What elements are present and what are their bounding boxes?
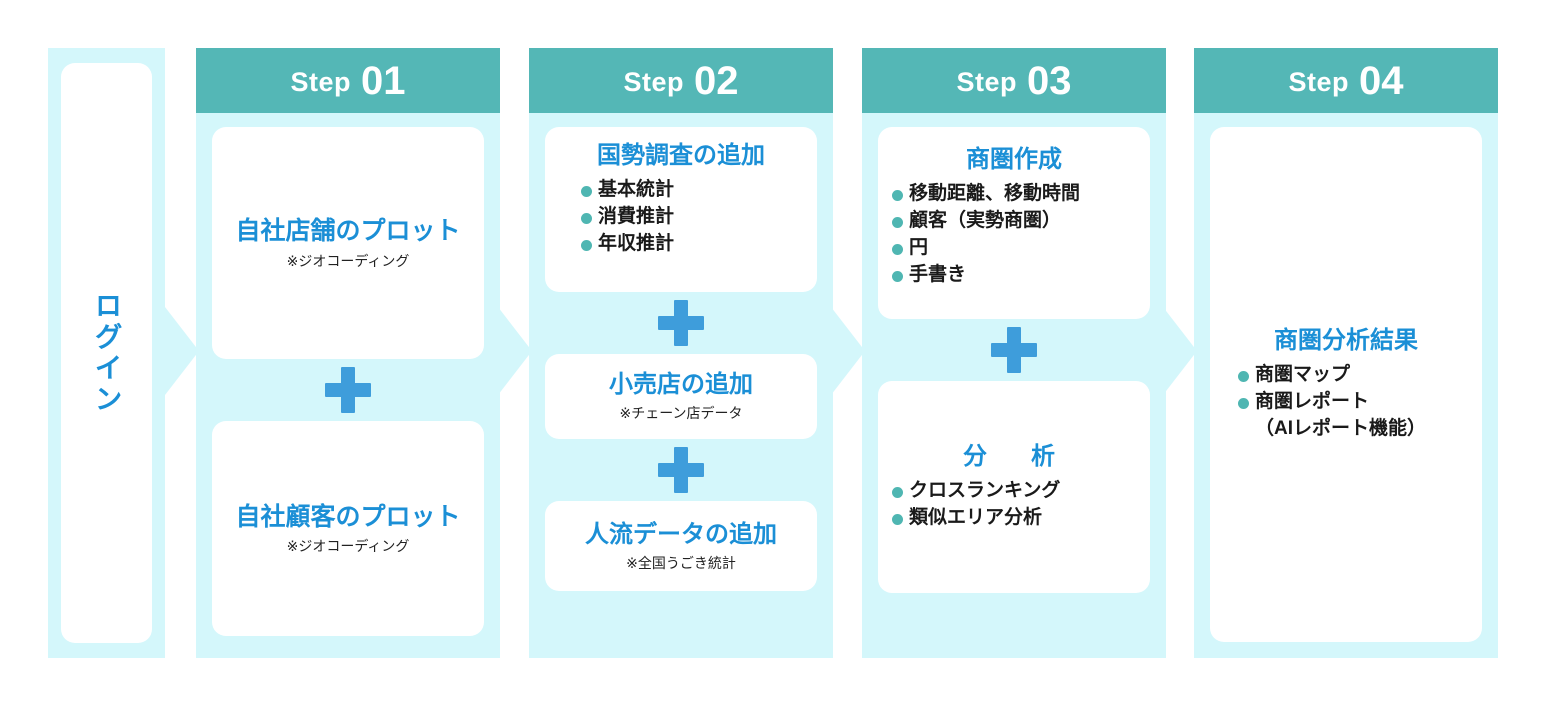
step-number-04: 04 [1359,61,1404,101]
card-title: 自社顧客のプロット [226,502,470,533]
connector-arrow-step2-to-step3 [831,307,865,395]
list-item: （AIレポート機能） [1238,416,1468,443]
card-bullet-list: 基本統計 消費推計 年収推計 [581,177,803,258]
step-column-04: Step 04 商圏分析結果 商圏マップ 商圏レポート （AIレポート機能） [1194,48,1498,658]
card-note: ※チェーン店データ [559,404,803,422]
step-word-02: Step [623,69,684,96]
card-note: ※全国うごき統計 [559,554,803,572]
card-title: 小売店の追加 [559,370,803,400]
step-number-02: 02 [694,61,739,101]
connector-arrow-login-to-step1 [165,307,199,395]
list-item: 手書き [892,262,1136,289]
card-step4-trade-area-results[interactable]: 商圏分析結果 商圏マップ 商圏レポート （AIレポート機能） [1210,127,1482,642]
step-body-04: 商圏分析結果 商圏マップ 商圏レポート （AIレポート機能） [1194,113,1498,658]
card-title: 商圏分析結果 [1224,326,1468,356]
card-title: 分 析 [892,442,1136,472]
card-note: ※ジオコーディング [226,537,470,555]
card-step1-own-stores[interactable]: 自社店舗のプロット ※ジオコーディング [212,127,484,359]
step-column-02: Step 02 国勢調査の追加 基本統計 消費推計 年収推計 小売店の追加 ※チ… [529,48,833,658]
list-item: 円 [892,235,1136,262]
login-label: ログイン [93,291,121,415]
step-body-03: 商圏作成 移動距離、移動時間 顧客（実勢商圏） 円 手書き 分 析 クロスランキ… [862,113,1166,658]
list-item: 商圏レポート [1238,389,1468,416]
card-title: 商圏作成 [892,145,1136,175]
list-item: 顧客（実勢商圏） [892,208,1136,235]
plus-icon [325,367,371,413]
step-body-01: 自社店舗のプロット ※ジオコーディング 自社顧客のプロット ※ジオコーディング [196,113,500,658]
step-word-03: Step [956,69,1017,96]
step-column-01: Step 01 自社店舗のプロット ※ジオコーディング 自社顧客のプロット ※ジ… [196,48,500,658]
login-card: ログイン [61,63,152,643]
step-number-01: 01 [361,61,406,101]
card-note: ※ジオコーディング [226,252,470,270]
card-step3-analysis[interactable]: 分 析 クロスランキング 類似エリア分析 [878,381,1150,593]
card-bullet-list: 商圏マップ 商圏レポート （AIレポート機能） [1238,362,1468,443]
process-flow-diagram: ログイン Step 01 自社店舗のプロット ※ジオコーディング 自社顧客のプロ… [0,0,1545,705]
list-item: 商圏マップ [1238,362,1468,389]
card-title: 国勢調査の追加 [559,141,803,171]
step-header-02: Step 02 [529,48,833,113]
card-step3-trade-area-creation[interactable]: 商圏作成 移動距離、移動時間 顧客（実勢商圏） 円 手書き [878,127,1150,319]
list-item: 年収推計 [581,231,803,258]
step-header-01: Step 01 [196,48,500,113]
card-title: 自社店舗のプロット [226,216,470,247]
list-item: 類似エリア分析 [892,505,1136,532]
list-item: 移動距離、移動時間 [892,181,1136,208]
connector-arrow-step1-to-step2 [498,307,532,395]
step-header-04: Step 04 [1194,48,1498,113]
card-title: 人流データの追加 [559,520,803,550]
card-step2-retail[interactable]: 小売店の追加 ※チェーン店データ [545,354,817,439]
step-word-04: Step [1288,69,1349,96]
plus-icon [658,447,704,493]
login-column: ログイン [48,48,165,658]
step-body-02: 国勢調査の追加 基本統計 消費推計 年収推計 小売店の追加 ※チェーン店データ … [529,113,833,658]
card-bullet-list: クロスランキング 類似エリア分析 [892,478,1136,532]
list-item: 基本統計 [581,177,803,204]
connector-arrow-step3-to-step4 [1163,307,1197,395]
step-number-03: 03 [1027,61,1072,101]
plus-icon [658,300,704,346]
step-header-03: Step 03 [862,48,1166,113]
step-column-03: Step 03 商圏作成 移動距離、移動時間 顧客（実勢商圏） 円 手書き 分 … [862,48,1166,658]
list-item: クロスランキング [892,478,1136,505]
plus-icon [991,327,1037,373]
card-step2-census[interactable]: 国勢調査の追加 基本統計 消費推計 年収推計 [545,127,817,292]
list-item: 消費推計 [581,204,803,231]
card-bullet-list: 移動距離、移動時間 顧客（実勢商圏） 円 手書き [892,181,1136,289]
step-word-01: Step [290,69,351,96]
card-step2-mobility[interactable]: 人流データの追加 ※全国うごき統計 [545,501,817,591]
card-step1-own-customers[interactable]: 自社顧客のプロット ※ジオコーディング [212,421,484,636]
